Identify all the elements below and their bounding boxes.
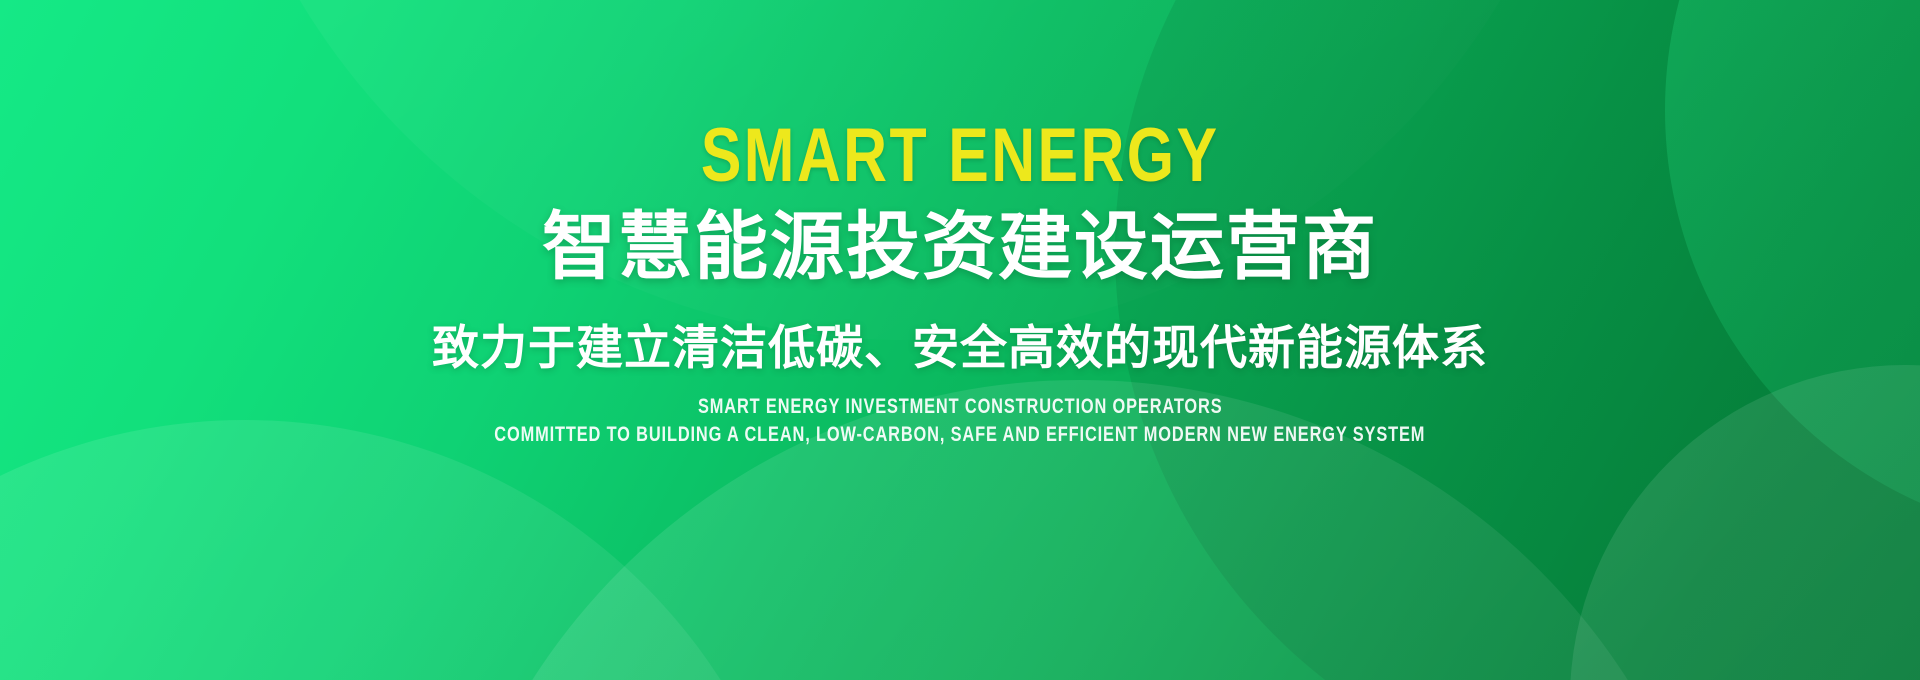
- banner-content: SMART ENERGY 智慧能源投资建设运营商 致力于建立清洁低碳、安全高效的…: [0, 0, 1920, 680]
- banner-english-line-2: COMMITTED TO BUILDING A CLEAN, LOW-CARBO…: [495, 424, 1426, 445]
- banner-subheadline: 致力于建立清洁低碳、安全高效的现代新能源体系: [432, 322, 1488, 374]
- banner-headline: 智慧能源投资建设运营商: [542, 208, 1378, 286]
- banner-english-line-1: SMART ENERGY INVESTMENT CONSTRUCTION OPE…: [698, 396, 1223, 417]
- banner-english-lines: SMART ENERGY INVESTMENT CONSTRUCTION OPE…: [363, 396, 1557, 445]
- smart-energy-banner: SMART ENERGY 智慧能源投资建设运营商 致力于建立清洁低碳、安全高效的…: [0, 0, 1920, 680]
- banner-eyebrow: SMART ENERGY: [701, 118, 1220, 194]
